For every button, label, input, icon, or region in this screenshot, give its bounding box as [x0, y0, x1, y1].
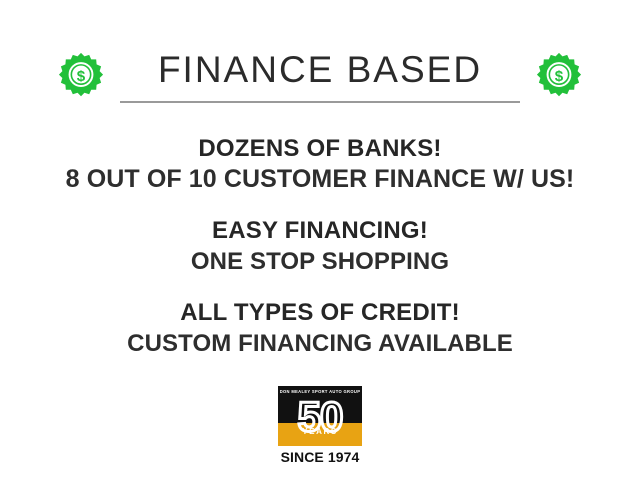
finance-based-slide: $ FINANCE BASED $ DOZENS OF BANKS! 8 OUT… — [0, 0, 640, 480]
gear-dollar-icon-right: $ — [536, 52, 582, 98]
svg-text:$: $ — [77, 68, 86, 85]
body-copy: DOZENS OF BANKS! 8 OUT OF 10 CUSTOMER FI… — [0, 134, 640, 359]
page-title: FINANCE BASED — [120, 48, 520, 92]
headline-dozens-of-banks: DOZENS OF BANKS! — [0, 134, 640, 164]
headline-easy-financing: EASY FINANCING! — [0, 216, 640, 246]
gear-dollar-icon-left: $ — [58, 52, 104, 98]
subline-custom-financing-available: CUSTOM FINANCING AVAILABLE — [0, 328, 640, 359]
copy-group-easy-financing: EASY FINANCING! ONE STOP SHOPPING — [0, 216, 640, 277]
copy-group-banks: DOZENS OF BANKS! 8 OUT OF 10 CUSTOMER FI… — [0, 134, 640, 195]
subline-8-out-of-10: 8 OUT OF 10 CUSTOMER FINANCE W/ US! — [0, 164, 640, 195]
dealer-anniversary-logo: DON MEALEY SPORT AUTO GROUP 50 YEARS SIN… — [278, 386, 362, 466]
title-divider — [120, 101, 520, 103]
logo-since-text: SINCE 1974 — [278, 449, 362, 466]
headline-all-types-of-credit: ALL TYPES OF CREDIT! — [0, 298, 640, 328]
logo-badge: DON MEALEY SPORT AUTO GROUP 50 YEARS — [278, 386, 362, 446]
svg-text:$: $ — [555, 68, 564, 85]
title-block: FINANCE BASED — [120, 48, 520, 103]
header: $ FINANCE BASED $ — [0, 44, 640, 106]
copy-group-all-types-of-credit: ALL TYPES OF CREDIT! CUSTOM FINANCING AV… — [0, 298, 640, 359]
subline-one-stop-shopping: ONE STOP SHOPPING — [0, 246, 640, 277]
logo-years-label: YEARS — [278, 427, 362, 437]
